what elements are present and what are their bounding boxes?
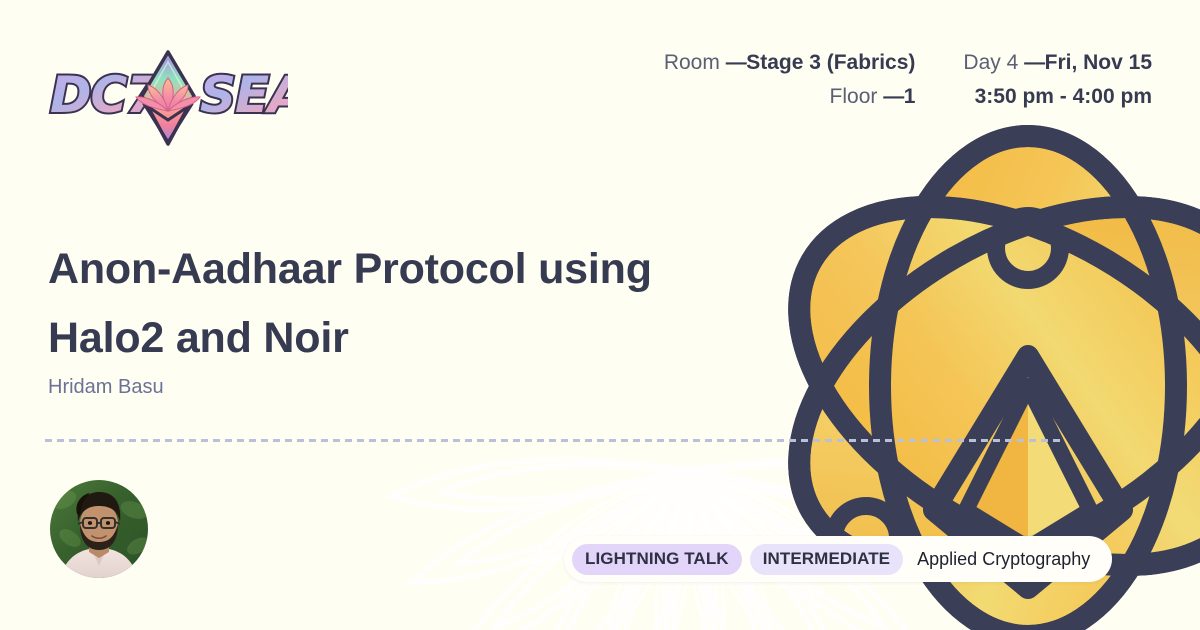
meta-floor-value: 1 (904, 85, 916, 108)
speaker-avatar (50, 480, 148, 578)
meta-time: 3:50 pm - 4:00 pm (963, 82, 1152, 112)
meta-room-label: Room (664, 51, 720, 74)
svg-text:SEA: SEA (200, 66, 288, 124)
meta-day-value: Fri, Nov 15 (1045, 51, 1152, 74)
session-tags: LIGHTNING TALK INTERMEDIATE Applied Cryp… (564, 536, 1112, 582)
meta-floor-label: Floor (830, 85, 878, 108)
logo-text-right: SEA (200, 66, 288, 124)
session-title: Anon-Aadhaar Protocol using Halo2 and No… (48, 235, 728, 373)
tag-format[interactable]: LIGHTNING TALK (572, 544, 742, 575)
tag-level[interactable]: INTERMEDIATE (750, 544, 903, 575)
avatar-photo (50, 480, 148, 578)
meta-room-value: Stage 3 (Fabrics) (746, 51, 915, 74)
meta-day-label: Day 4 (963, 51, 1018, 74)
meta-schedule: Day 4 —Fri, Nov 15 3:50 pm - 4:00 pm (963, 48, 1152, 112)
session-card: DC7 SEA Room —Stage 3 (Fabrics) (0, 0, 1200, 630)
meta-location: Room —Stage 3 (Fabrics) Floor —1 (664, 48, 916, 112)
meta-floor-dash: — (883, 85, 904, 108)
meta-day-dash: — (1024, 51, 1045, 74)
speaker-name: Hridam Basu (48, 373, 164, 401)
session-meta: Room —Stage 3 (Fabrics) Floor —1 Day 4 —… (664, 48, 1152, 112)
dc7-sea-logo[interactable]: DC7 SEA (48, 46, 288, 150)
meta-room: Room —Stage 3 (Fabrics) (664, 48, 916, 78)
tag-track[interactable]: Applied Cryptography (911, 549, 1104, 569)
meta-day: Day 4 —Fri, Nov 15 (963, 48, 1152, 78)
meta-floor: Floor —1 (664, 82, 916, 112)
meta-room-dash: — (726, 51, 747, 74)
dashed-divider (45, 439, 1065, 442)
